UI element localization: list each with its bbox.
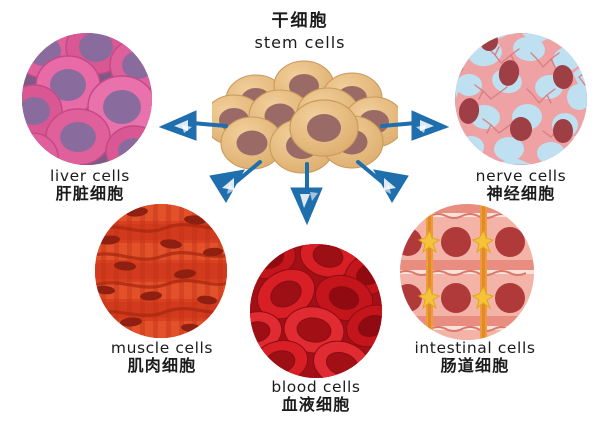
nerve-cells-label-zh: 神经细胞 — [442, 185, 600, 203]
nerve-cells-label-en: nerve cells — [442, 168, 600, 185]
liver-cells-label: liver cells 肝脏细胞 — [10, 168, 170, 203]
stem-cell-differentiation-diagram: 干细胞 stem cells — [0, 0, 600, 431]
arrow-to-liver-icon — [152, 100, 230, 148]
intestinal-cells-label: intestinal cells 肠道细胞 — [385, 340, 565, 375]
arrow-to-nerve-icon — [378, 100, 456, 148]
muscle-cells-label-zh: 肌肉细胞 — [82, 357, 242, 375]
title-chinese: 干细胞 — [0, 6, 600, 31]
intestinal-cells-image — [400, 204, 534, 340]
blood-cells-label-zh: 血液细胞 — [236, 396, 396, 414]
muscle-cells-label: muscle cells 肌肉细胞 — [82, 340, 242, 375]
intestinal-cells-label-zh: 肠道细胞 — [385, 357, 565, 375]
blood-cells-image — [250, 244, 382, 378]
muscle-cells-image — [95, 204, 227, 338]
nerve-cells-image — [455, 33, 587, 165]
nerve-cells-label: nerve cells 神经细胞 — [442, 168, 600, 203]
liver-cells-label-zh: 肝脏细胞 — [10, 185, 170, 203]
muscle-cells-label-en: muscle cells — [82, 340, 242, 357]
intestinal-cells-label-en: intestinal cells — [385, 340, 565, 357]
arrow-to-blood-icon — [282, 160, 334, 230]
liver-cells-label-en: liver cells — [10, 168, 170, 185]
liver-cells-image — [22, 33, 152, 165]
blood-cells-label: blood cells 血液细胞 — [236, 379, 396, 414]
blood-cells-label-en: blood cells — [236, 379, 396, 396]
